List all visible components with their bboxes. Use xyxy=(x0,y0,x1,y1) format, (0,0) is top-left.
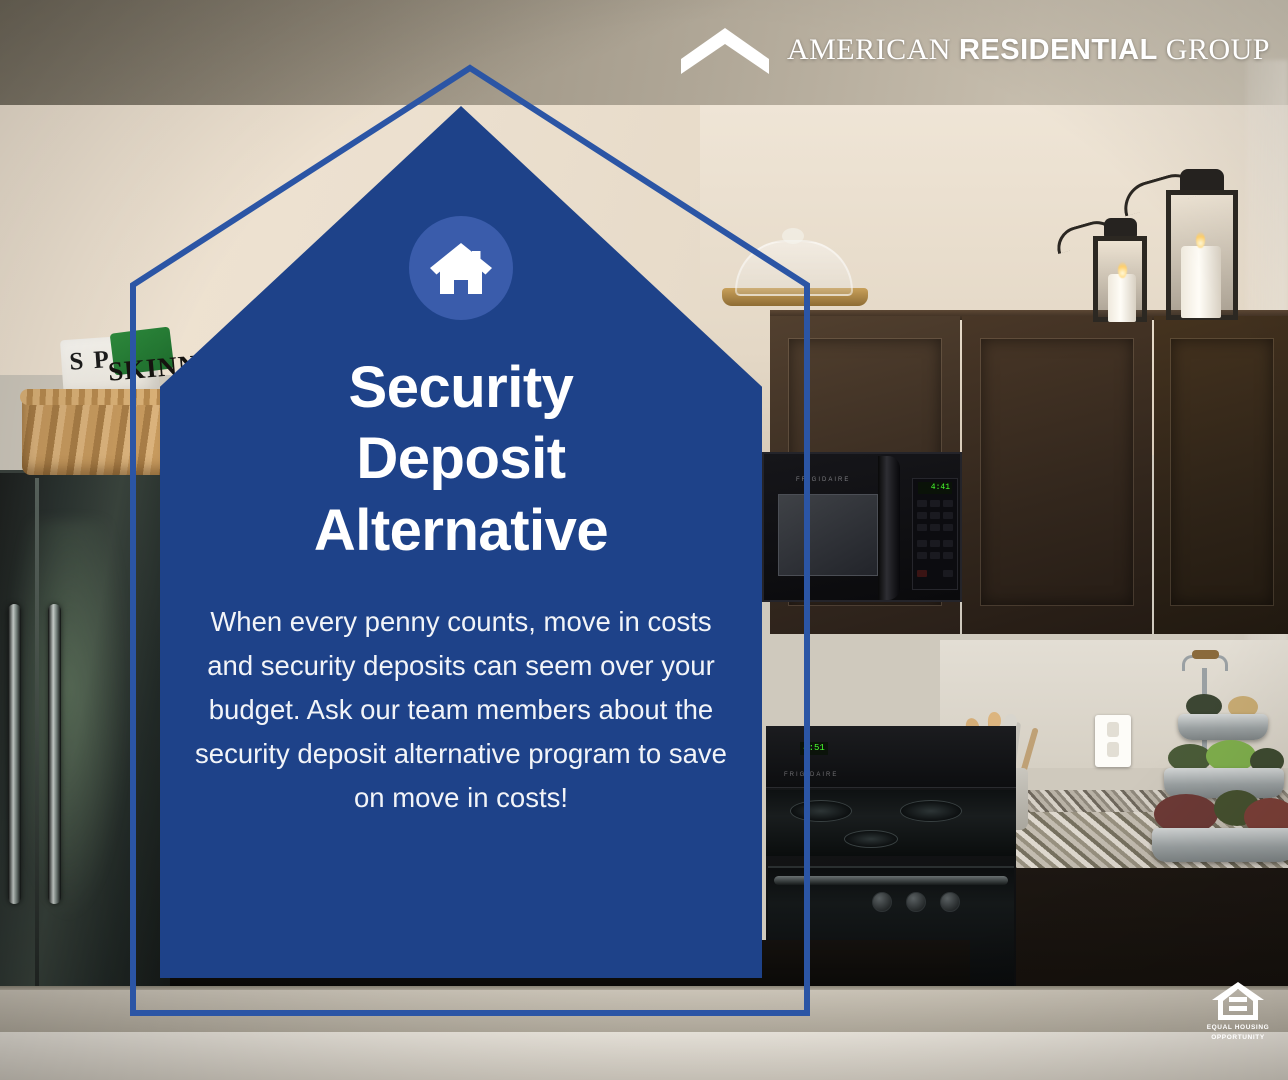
brand-name: AMERICAN RESIDENTIAL GROUP xyxy=(787,33,1270,67)
headline-line-1: Security xyxy=(314,352,608,423)
body-copy: When every penny counts, move in costs a… xyxy=(189,600,734,820)
brand-logo[interactable]: AMERICAN RESIDENTIAL GROUP xyxy=(681,26,1270,74)
headline-line-2: Deposit xyxy=(314,423,608,494)
headline-line-3: Alternative xyxy=(314,495,608,566)
brand-name-part3: GROUP xyxy=(1158,33,1270,66)
eho-line-1: EQUAL HOUSING xyxy=(1202,1024,1274,1032)
page-title: Security Deposit Alternative xyxy=(314,352,608,566)
equal-housing-opportunity-logo: EQUAL HOUSING OPPORTUNITY xyxy=(1202,980,1274,1042)
house-icon-badge xyxy=(409,216,513,320)
poster-canvas: SKINNY xyxy=(0,0,1288,1080)
brand-name-part1: AMERICAN xyxy=(787,33,959,66)
eho-line-2: OPPORTUNITY xyxy=(1202,1034,1274,1042)
equal-housing-opportunity-icon xyxy=(1210,980,1266,1022)
chevron-roof-icon xyxy=(681,26,769,74)
card-content: Security Deposit Alternative When every … xyxy=(160,106,762,978)
brand-name-part2: RESIDENTIAL xyxy=(959,34,1158,66)
house-icon xyxy=(428,239,494,297)
